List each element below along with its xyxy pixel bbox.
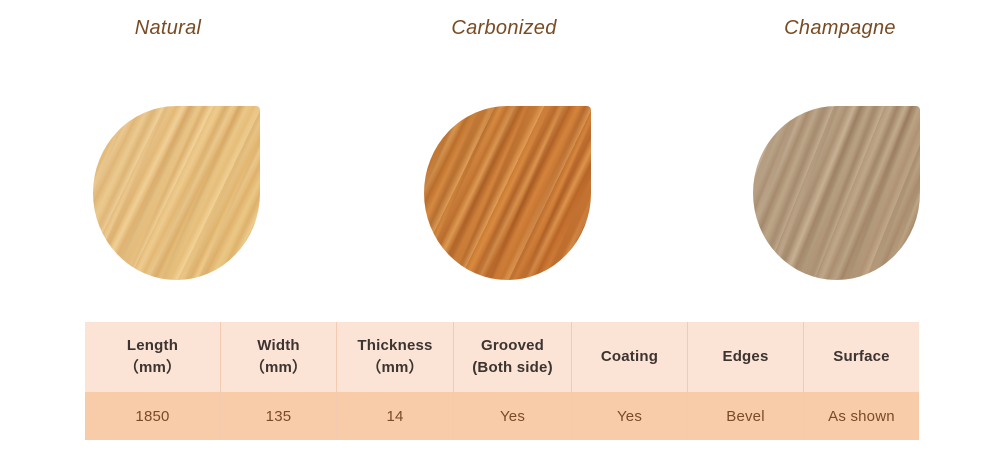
table-header-cell-surface: Surface xyxy=(804,322,920,392)
table-header-row: Length （mm） Width （mm） Thickness （mm） Gr… xyxy=(85,322,919,392)
table-row: 1850 135 14 Yes Yes Bevel As shown xyxy=(85,392,919,440)
table-header-cell-edges: Edges xyxy=(688,322,804,392)
header-unit-length: （mm） xyxy=(85,357,220,379)
swatch-shape-wrap-carbonized xyxy=(336,106,672,286)
header-unit-grooved: (Both side) xyxy=(454,357,571,379)
swatch-label-natural: Natural xyxy=(0,17,336,40)
swatch-shape-wrap-champagne xyxy=(672,106,1008,286)
table-cell-length-value: 1850 xyxy=(85,392,221,440)
table-header-cell-length: Length （mm） xyxy=(85,322,221,392)
table-cell-surface-value: As shown xyxy=(804,392,920,440)
table-cell-edges-value: Bevel xyxy=(688,392,804,440)
swatch-label-carbonized: Carbonized xyxy=(336,17,672,40)
header-unit-width: （mm） xyxy=(221,357,336,379)
table-cell-grooved-value: Yes xyxy=(454,392,572,440)
table-header-cell-width: Width （mm） xyxy=(221,322,337,392)
header-title-width: Width xyxy=(257,337,300,354)
swatch-cell-champagne[interactable]: Champagne xyxy=(672,0,1008,300)
header-title-edges: Edges xyxy=(722,348,768,365)
swatch-shape-wrap-natural xyxy=(0,106,336,286)
header-title-surface: Surface xyxy=(833,348,889,365)
header-title-grooved: Grooved xyxy=(481,337,544,354)
wood-grain-shading-icon xyxy=(424,106,591,280)
header-title-coating: Coating xyxy=(601,348,658,365)
swatch-cell-carbonized[interactable]: Carbonized xyxy=(336,0,672,300)
header-unit-thickness: （mm） xyxy=(337,357,453,379)
wood-swatch-carbonized[interactable] xyxy=(424,106,591,280)
table-header-cell-thickness: Thickness （mm） xyxy=(337,322,454,392)
wood-grain-shading-icon xyxy=(93,106,260,280)
table-header-cell-coating: Coating xyxy=(572,322,688,392)
wood-grain-shading-icon xyxy=(753,106,920,280)
wood-swatch-natural[interactable] xyxy=(93,106,260,280)
table-header-cell-grooved: Grooved (Both side) xyxy=(454,322,572,392)
wood-swatch-champagne[interactable] xyxy=(753,106,920,280)
color-swatch-gallery: Natural Carbonized Champagne xyxy=(0,0,1008,300)
table-cell-width-value: 135 xyxy=(221,392,337,440)
header-title-length: Length xyxy=(127,337,178,354)
table-cell-coating-value: Yes xyxy=(572,392,688,440)
swatch-label-champagne: Champagne xyxy=(672,17,1008,40)
specification-table: Length （mm） Width （mm） Thickness （mm） Gr… xyxy=(85,322,919,440)
table-cell-thickness-value: 14 xyxy=(337,392,454,440)
header-title-thickness: Thickness xyxy=(357,337,432,354)
swatch-cell-natural[interactable]: Natural xyxy=(0,0,336,300)
